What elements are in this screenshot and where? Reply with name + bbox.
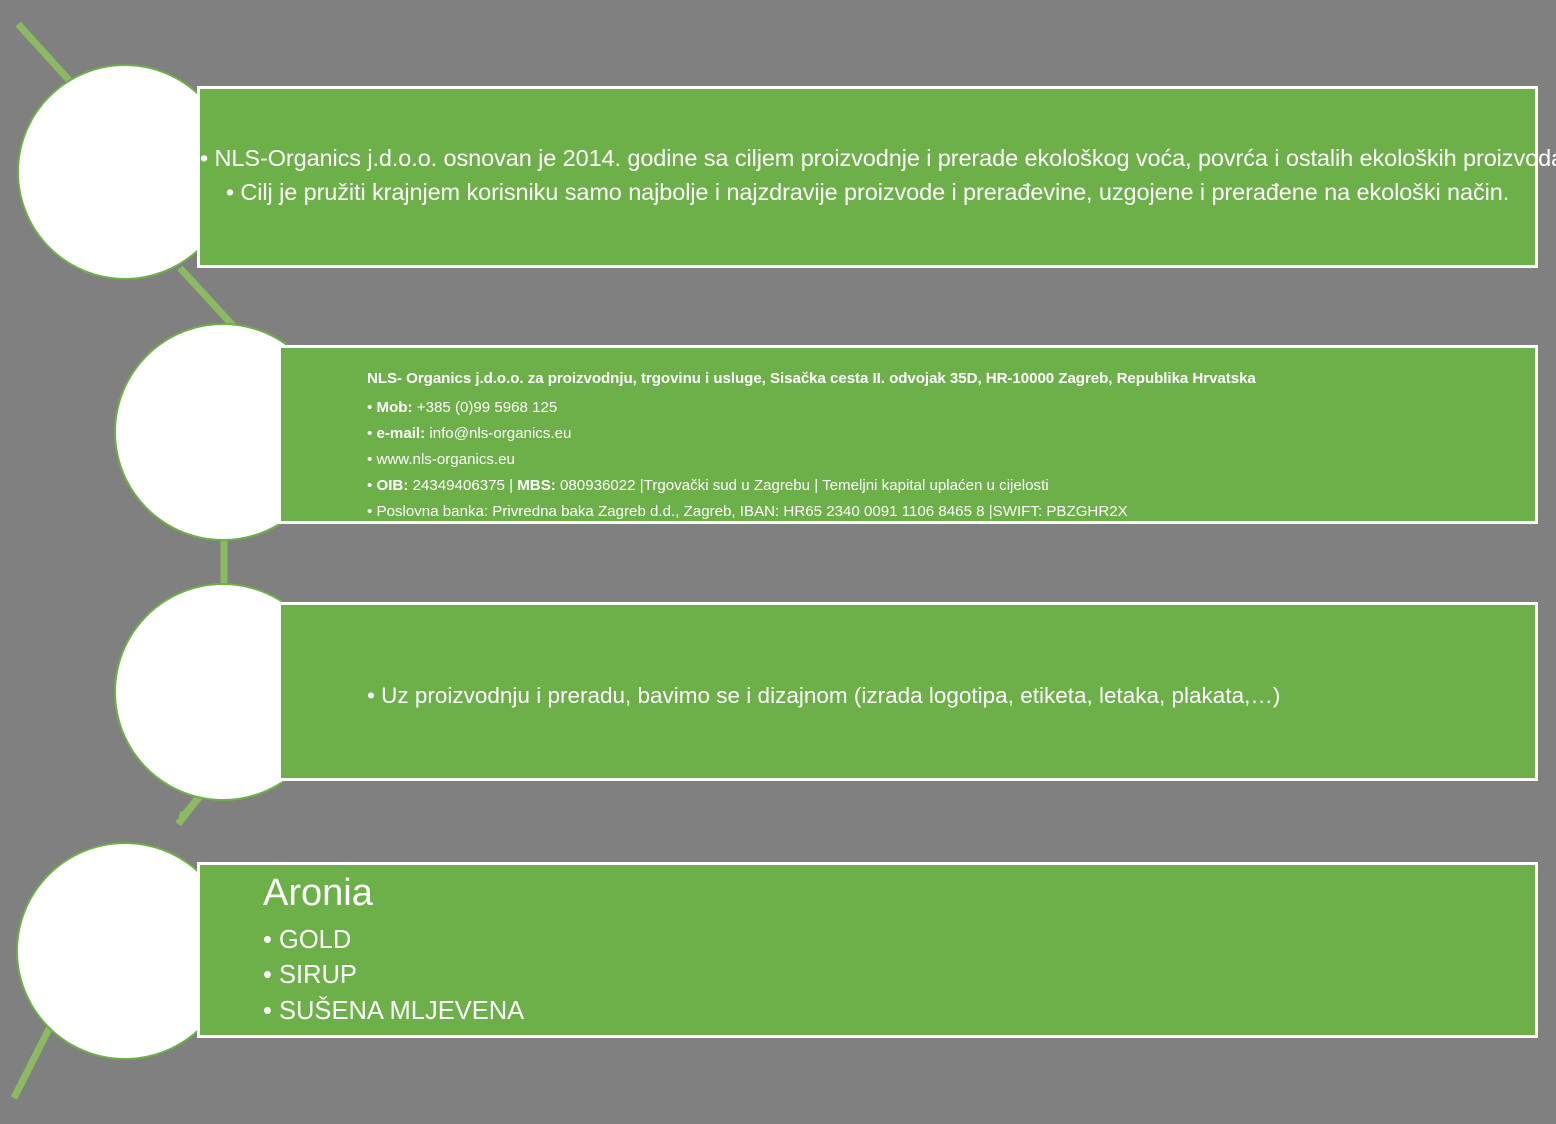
aronia-block: Aronia • GOLD • SIRUP • SUŠENA MLJEVENA (263, 873, 524, 1032)
contact-list: • Mob: +385 (0)99 5968 125 • e-mail: inf… (367, 400, 1521, 519)
design-bullet-1: • Uz proizvodnju i preradu, bavimo se i … (367, 683, 1280, 709)
contact-bullet: • (367, 503, 372, 520)
contact-bullet: • (367, 399, 372, 416)
connector-line-3-4 (178, 790, 205, 824)
contact-value-website[interactable]: www.nls-organics.eu (377, 451, 515, 468)
aronia-item-gold: • GOLD (263, 925, 524, 956)
aronia-title: Aronia (263, 873, 524, 915)
contact-label-mobile: Mob: (377, 399, 413, 416)
intro-bullet-2: • Cilj je pružiti krajnjem korisniku sam… (200, 175, 1535, 209)
panel-contact: NLS- Organics j.d.o.o. za proizvodnju, t… (278, 345, 1538, 524)
connector-line-1-2 (180, 268, 248, 342)
intro-bullet-list: • NLS-Organics j.d.o.o. osnovan je 2014.… (200, 141, 1535, 209)
contact-label-email: e-mail: (377, 425, 426, 442)
contact-label-oib: OIB: (377, 477, 409, 494)
contact-value-bank: Poslovna banka: Privredna baka Zagreb d.… (377, 503, 1128, 520)
contact-value-mobile: +385 (0)99 5968 125 (417, 399, 558, 416)
intro-bullet-1: • NLS-Organics j.d.o.o. osnovan je 2014.… (200, 141, 1535, 175)
contact-item-email: • e-mail: info@nls-organics.eu (367, 426, 1521, 441)
contact-item-mobile: • Mob: +385 (0)99 5968 125 (367, 400, 1521, 415)
aronia-item-sirup: • SIRUP (263, 960, 524, 991)
contact-bullet: • (367, 477, 372, 494)
connector-line-top (18, 24, 128, 145)
contact-item-website: • www.nls-organics.eu (367, 452, 1521, 467)
contact-bullet: • (367, 451, 372, 468)
panel-aronia: Aronia • GOLD • SIRUP • SUŠENA MLJEVENA (197, 862, 1538, 1038)
contact-value-oib: 24349406375 | (413, 477, 518, 494)
contact-label-mbs: MBS: (517, 477, 556, 494)
contact-bullet: • (367, 425, 372, 442)
contact-block: NLS- Organics j.d.o.o. za proizvodnju, t… (367, 371, 1521, 531)
connector-line-bottom (14, 1003, 62, 1098)
contact-heading: NLS- Organics j.d.o.o. za proizvodnju, t… (367, 371, 1521, 386)
slide-canvas: • NLS-Organics j.d.o.o. osnovan je 2014.… (0, 0, 1556, 1124)
contact-value-email[interactable]: info@nls-organics.eu (429, 425, 571, 442)
contact-item-bank: • Poslovna banka: Privredna baka Zagreb … (367, 504, 1521, 519)
panel-design: • Uz proizvodnju i preradu, bavimo se i … (278, 602, 1538, 781)
contact-item-registration: • OIB: 24349406375 | MBS: 080936022 |Trg… (367, 478, 1521, 493)
aronia-item-susena-mljevena: • SUŠENA MLJEVENA (263, 996, 524, 1027)
connector-line-3-4b (182, 812, 184, 818)
panel-intro: • NLS-Organics j.d.o.o. osnovan je 2014.… (197, 86, 1538, 268)
connector-line-3-4a (182, 795, 200, 818)
contact-value-mbs: 080936022 |Trgovački sud u Zagrebu | Tem… (560, 477, 1049, 494)
